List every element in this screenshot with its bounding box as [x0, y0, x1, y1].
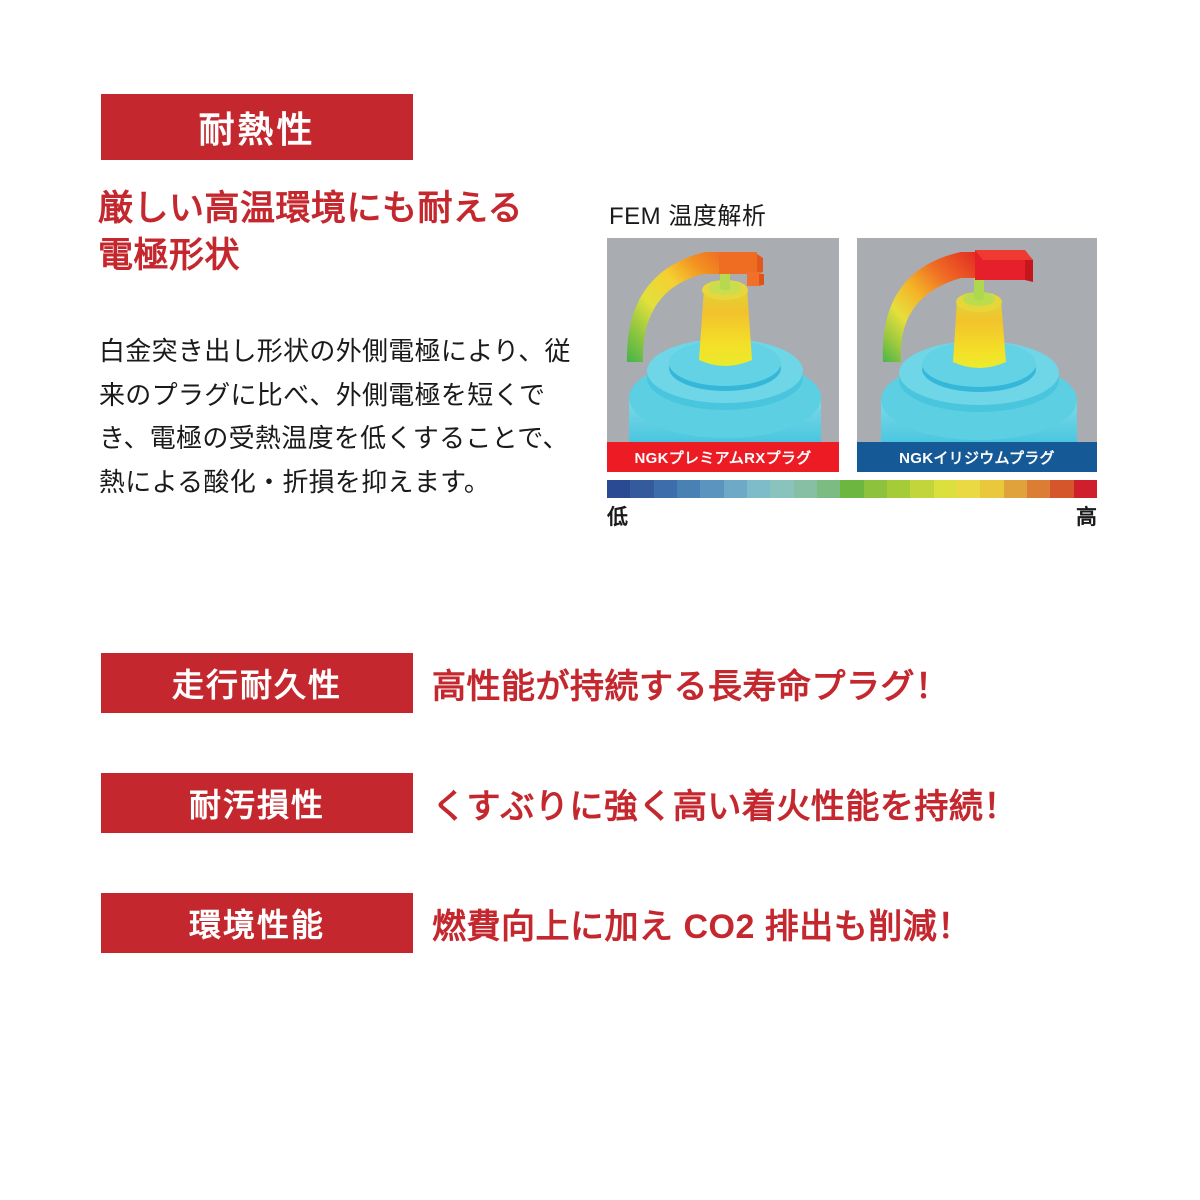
fem-panel-title: FEM 温度解析 — [609, 196, 766, 231]
plug-thermal-render-rx — [607, 238, 839, 472]
scale-swatch-6 — [747, 480, 770, 498]
scale-swatch-13 — [910, 480, 933, 498]
scale-swatch-11 — [864, 480, 887, 498]
fem-caption-premium-rx: NGKプレミアムRXプラグ — [607, 442, 839, 472]
scale-swatch-10 — [840, 480, 863, 498]
feature-row: 環境性能 燃費向上に加え CO2 排出も削減！ — [0, 890, 1200, 956]
temperature-color-scale — [607, 480, 1097, 498]
heat-headline-line1: 厳しい高温環境にも耐える — [98, 185, 598, 232]
scale-swatch-0 — [607, 480, 630, 498]
badge-fouling-resistance: 耐汚損性 — [101, 773, 413, 833]
feature-row: 耐汚損性 くすぶりに強く高い着火性能を持続！ — [0, 770, 1200, 836]
scale-swatch-16 — [980, 480, 1003, 498]
badge-heat-resistance: 耐熱性 — [101, 94, 413, 160]
scale-swatch-5 — [724, 480, 747, 498]
scale-swatch-14 — [934, 480, 957, 498]
scale-swatch-1 — [630, 480, 653, 498]
feature-row: 走行耐久性 高性能が持続する長寿命プラグ！ — [0, 650, 1200, 716]
feature-text-environmental-performance: 燃費向上に加え CO2 排出も削減！ — [432, 890, 972, 956]
feature-text-fouling-resistance: くすぶりに強く高い着火性能を持続！ — [432, 770, 1018, 836]
plug-thermal-render-iridium — [857, 238, 1097, 472]
scale-swatch-19 — [1050, 480, 1073, 498]
fem-image-iridium: NGKイリジウムプラグ — [857, 238, 1097, 472]
heat-body-text: 白金突き出し形状の外側電極により、従来のプラグに比べ、外側電極を短くでき、電極の… — [99, 330, 591, 505]
heat-headline-line2: 電極形状 — [98, 232, 598, 279]
scale-swatch-2 — [654, 480, 677, 498]
scale-swatch-18 — [1027, 480, 1050, 498]
scale-swatch-7 — [770, 480, 793, 498]
scale-high-label: 高 — [1076, 501, 1097, 531]
feature-text-driving-durability: 高性能が持続する長寿命プラグ！ — [432, 650, 950, 716]
scale-swatch-17 — [1004, 480, 1027, 498]
scale-swatch-3 — [677, 480, 700, 498]
scale-swatch-8 — [794, 480, 817, 498]
scale-swatch-12 — [887, 480, 910, 498]
scale-swatch-4 — [700, 480, 723, 498]
scale-swatch-15 — [957, 480, 980, 498]
scale-low-label: 低 — [607, 501, 628, 531]
heat-headline: 厳しい高温環境にも耐える 電極形状 — [98, 185, 598, 280]
badge-driving-durability: 走行耐久性 — [101, 653, 413, 713]
scale-swatch-20 — [1074, 480, 1097, 498]
scale-swatch-9 — [817, 480, 840, 498]
fem-image-premium-rx: NGKプレミアムRXプラグ — [607, 238, 839, 472]
fem-analysis-panel: FEM 温度解析 — [605, 196, 1097, 526]
badge-environmental-performance: 環境性能 — [101, 893, 413, 953]
fem-caption-iridium: NGKイリジウムプラグ — [857, 442, 1097, 472]
